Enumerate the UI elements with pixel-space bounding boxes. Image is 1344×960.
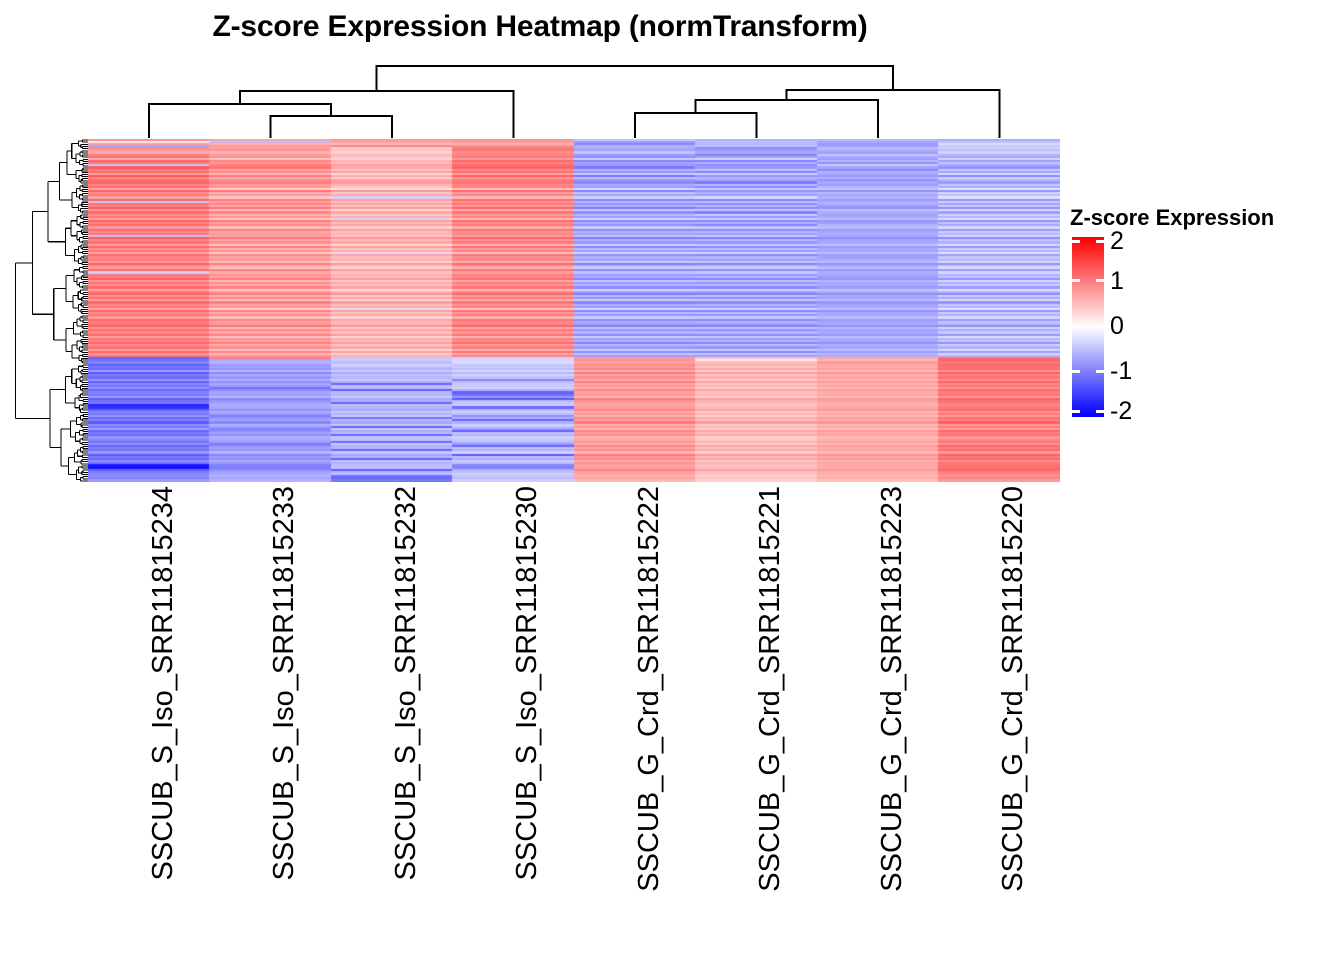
legend-tick-mark (1096, 410, 1104, 413)
row-dendrogram (14, 139, 88, 482)
column-label: SSCUB_G_Crd_SRR11815220 (999, 486, 1028, 892)
column-label: SSCUB_G_Crd_SRR11815221 (756, 486, 785, 892)
legend-tick-mark (1072, 370, 1080, 373)
column-label: SSCUB_S_Iso_SRR11815230 (513, 486, 542, 880)
column-label: SSCUB_S_Iso_SRR11815232 (392, 486, 421, 880)
legend-colorbar (1072, 237, 1104, 417)
legend-tick-mark (1072, 279, 1080, 282)
column-label: SSCUB_S_Iso_SRR11815233 (270, 486, 299, 880)
legend-tick-label: 1 (1110, 269, 1124, 294)
column-label: SSCUB_G_Crd_SRR11815222 (635, 486, 664, 892)
legend-tick-mark (1096, 279, 1104, 282)
column-label: SSCUB_S_Iso_SRR11815234 (149, 486, 178, 880)
legend-tick-mark (1072, 240, 1080, 243)
legend-title: Z-score Expression (1070, 205, 1274, 231)
legend-tick-mark (1072, 410, 1080, 413)
legend-tick-mark (1096, 240, 1104, 243)
legend-tick-label: -1 (1110, 359, 1132, 384)
column-label: SSCUB_G_Crd_SRR11815223 (878, 486, 907, 892)
legend-tick-label: -2 (1110, 399, 1132, 424)
legend-tick-mark (1096, 370, 1104, 373)
heatmap-figure: Z-score Expression Heatmap (normTransfor… (0, 0, 1344, 960)
column-labels: SSCUB_S_Iso_SRR11815234 SSCUB_S_Iso_SRR1… (88, 486, 1060, 946)
color-legend: Z-score Expression 2 1 0 -1 -2 (1070, 205, 1340, 425)
legend-tick-mark (1072, 325, 1080, 328)
legend-tick-mark (1096, 325, 1104, 328)
heatmap-cells[interactable] (88, 139, 1060, 482)
page-title: Z-score Expression Heatmap (normTransfor… (0, 10, 1080, 44)
legend-tick-label: 2 (1110, 229, 1124, 254)
heatmap-body[interactable] (88, 139, 1060, 482)
column-dendrogram (88, 58, 1060, 138)
legend-tick-label: 0 (1110, 314, 1124, 339)
